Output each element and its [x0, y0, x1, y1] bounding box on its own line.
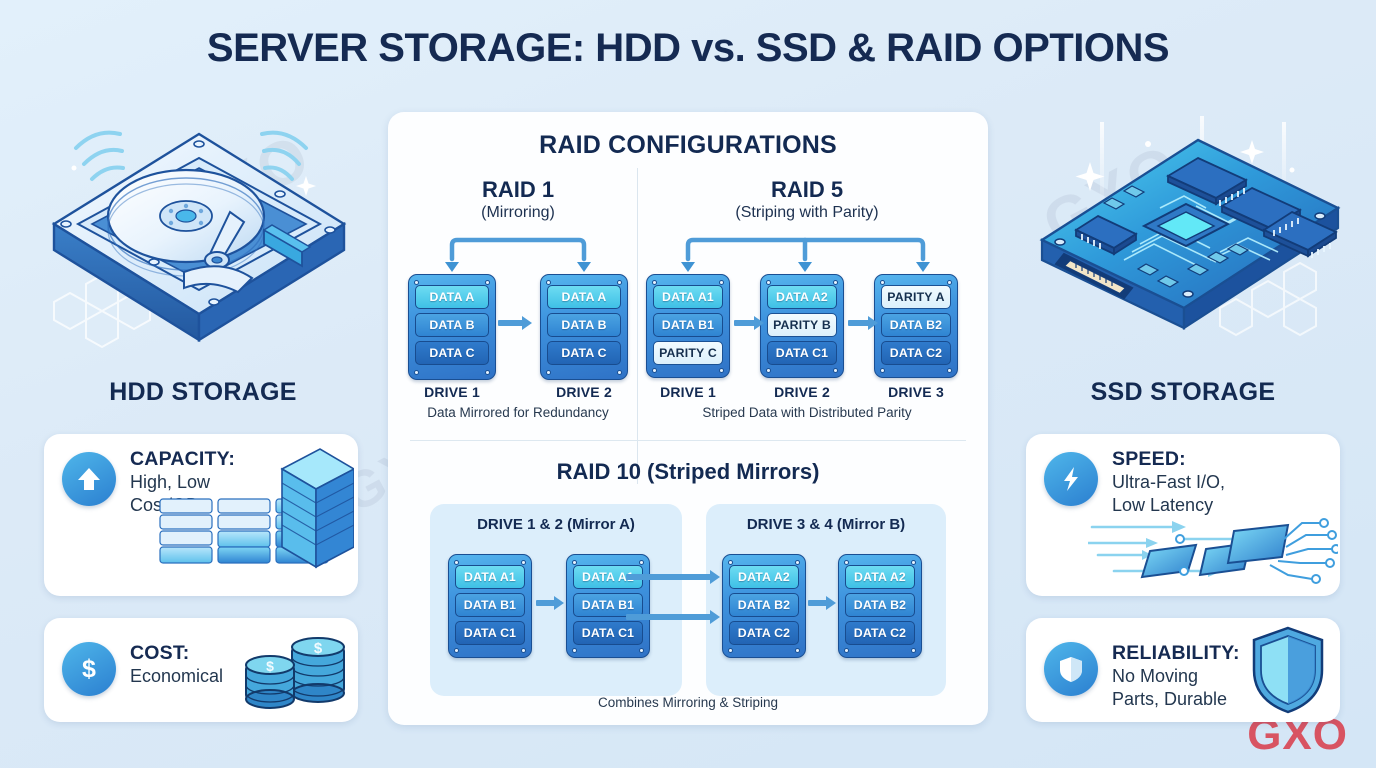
screw-icon [833, 280, 838, 285]
drive-label: DRIVE 2 [540, 384, 628, 400]
speed-head: SPEED: [1112, 448, 1225, 471]
screw-icon [639, 560, 644, 565]
raid10-group-b-drives: DATA A2 DATA B2 DATA C2 DATA A2 DATA B2 … [722, 554, 922, 658]
screw-icon [414, 370, 419, 375]
screw-icon [766, 280, 771, 285]
raid1-drive-row: DATA A DATA B DATA C DRIVE 1 DATA A DATA… [408, 274, 628, 380]
data-block: DATA C1 [767, 341, 837, 365]
cost-card: $ COST: Economical [44, 618, 358, 722]
raid1-drive-1[interactable]: DATA A DATA B DATA C DRIVE 1 [408, 274, 496, 380]
raid5-stripe-arrow [734, 320, 756, 326]
screw-icon [617, 280, 622, 285]
screw-icon [572, 560, 577, 565]
data-block: DATA A2 [767, 285, 837, 309]
raid1-subtitle: (Mirroring) [406, 204, 630, 222]
screw-icon [795, 648, 800, 653]
screw-icon [911, 648, 916, 653]
data-block: DATA A2 [845, 565, 915, 589]
shield-badge-art [1248, 624, 1328, 721]
raid10-stripe-arrow-top [626, 574, 712, 580]
page-title-text: SERVER STORAGE: HDD vs. SSD & RAID OPTIO… [207, 26, 1169, 70]
screw-icon [795, 560, 800, 565]
screw-icon [454, 560, 459, 565]
screw-icon [414, 280, 419, 285]
parity-block: PARITY B [767, 313, 837, 337]
data-block: DATA B2 [881, 313, 951, 337]
data-block: DATA B [415, 313, 489, 337]
lightning-bolt-icon [1044, 452, 1098, 506]
data-block: DATA C1 [573, 621, 643, 645]
raid-configurations-panel: RAID CONFIGURATIONS RAID 1 (Mirroring) D… [388, 112, 988, 725]
raid10-drive-4[interactable]: DATA A2 DATA B2 DATA C2 [838, 554, 922, 658]
reliability-body-2: Parts, Durable [1112, 689, 1240, 711]
stacked-platters-art [154, 439, 354, 596]
mirror-group-b-title: DRIVE 3 & 4 (Mirror B) [706, 516, 946, 533]
screw-icon [652, 280, 657, 285]
screw-icon [844, 560, 849, 565]
screw-icon [728, 648, 733, 653]
mirror-group-a-title: DRIVE 1 & 2 (Mirror A) [430, 516, 682, 533]
ssd-illustration [1020, 112, 1350, 367]
raid10-mirror-b-arrow [808, 600, 828, 606]
data-block: DATA C2 [881, 341, 951, 365]
screw-icon [911, 560, 916, 565]
data-block: DATA A2 [729, 565, 799, 589]
data-block: DATA C [415, 341, 489, 365]
reliability-body-1: No Moving [1112, 666, 1240, 688]
speed-body-1: Ultra-Fast I/O, [1112, 472, 1225, 494]
screw-icon [880, 368, 885, 373]
raid1-arrowhead [445, 262, 459, 272]
raid10-mirror-a-arrow [536, 600, 556, 606]
drive-label: DRIVE 3 [874, 384, 958, 400]
reliability-head: RELIABILITY: [1112, 642, 1240, 665]
raid-configurations-title: RAID CONFIGURATIONS [388, 131, 988, 160]
hdd-storage-heading: HDD STORAGE [38, 378, 368, 407]
raid5-drive-row: DATA A1 DATA B1 PARITY C DRIVE 1 DATA A2… [646, 274, 958, 378]
reliability-card: RELIABILITY: No Moving Parts, Durable [1026, 618, 1340, 722]
ssd-storage-heading: SSD STORAGE [1018, 378, 1348, 407]
screw-icon [617, 370, 622, 375]
screw-icon [485, 370, 490, 375]
raid10-title: RAID 10 (Striped Mirrors) [388, 460, 988, 483]
raid10-drive-3[interactable]: DATA A2 DATA B2 DATA C2 [722, 554, 806, 658]
raid10-caption: Combines Mirroring & Striping [388, 695, 988, 710]
screw-icon [719, 280, 724, 285]
hdd-illustration [34, 112, 364, 367]
drive-label: DRIVE 2 [760, 384, 844, 400]
raid1-mirror-arrowhead [522, 316, 532, 330]
raid10-drive-2[interactable]: DATA A1 DATA B1 DATA C1 [566, 554, 650, 658]
raid10-section: RAID 10 (Striped Mirrors) [388, 460, 988, 483]
raid10-stripe-arrowhead-top [710, 570, 720, 584]
raid1-name: RAID 1 [406, 178, 630, 201]
raid5-drive-3[interactable]: PARITY A DATA B2 DATA C2 DRIVE 3 [874, 274, 958, 378]
data-block: DATA C2 [845, 621, 915, 645]
screw-icon [652, 368, 657, 373]
raid10-group-a-drives: DATA A1 DATA B1 DATA C1 DATA A1 DATA B1 … [448, 554, 650, 658]
parity-block: PARITY A [881, 285, 951, 309]
screw-icon [521, 648, 526, 653]
screw-icon [947, 280, 952, 285]
svg-text:$: $ [266, 658, 274, 674]
screw-icon [485, 280, 490, 285]
cost-body-1: Economical [130, 666, 223, 688]
raid1-mirror-arrow [498, 320, 524, 326]
screw-icon [546, 280, 551, 285]
raid5-arrowhead [798, 262, 812, 272]
screw-icon [639, 648, 644, 653]
data-block: DATA A1 [455, 565, 525, 589]
raid5-section: RAID 5 (Striping with Parity) [646, 178, 968, 222]
data-block: DATA C [547, 341, 621, 365]
screw-icon [719, 368, 724, 373]
data-block: DATA B2 [845, 593, 915, 617]
raid10-stripe-arrow-bottom [626, 614, 712, 620]
raid5-stripe-arrowhead [868, 316, 878, 330]
drive-label: DRIVE 1 [646, 384, 730, 400]
parity-block: PARITY C [653, 341, 723, 365]
raid5-subtitle: (Striping with Parity) [646, 204, 968, 222]
data-block: DATA B [547, 313, 621, 337]
data-block: DATA A [415, 285, 489, 309]
raid5-name: RAID 5 [646, 178, 968, 201]
raid10-stripe-arrowhead-bottom [710, 610, 720, 624]
raid10-mirror-b-arrowhead [826, 596, 836, 610]
svg-text:$: $ [82, 655, 96, 683]
data-block: DATA C2 [729, 621, 799, 645]
raid5-stripe-arrowhead [754, 316, 764, 330]
capacity-card: CAPACITY: High, Low Cost/GB [44, 434, 358, 596]
drive-label: DRIVE 1 [408, 384, 496, 400]
screw-icon [454, 648, 459, 653]
shield-icon [1044, 642, 1098, 696]
raid1-bracket [406, 237, 630, 269]
screw-icon [728, 560, 733, 565]
data-block: DATA A [547, 285, 621, 309]
raid1-caption: Data Mirrored for Redundancy [398, 405, 638, 420]
svg-text:$: $ [314, 640, 323, 657]
screw-icon [844, 648, 849, 653]
raid10-mirror-a-arrowhead [554, 596, 564, 610]
data-block: DATA B1 [455, 593, 525, 617]
raid5-stripe-arrow [848, 320, 870, 326]
raid5-drive-1[interactable]: DATA A1 DATA B1 PARITY C DRIVE 1 [646, 274, 730, 378]
data-block: DATA A1 [653, 285, 723, 309]
data-block: DATA B1 [653, 313, 723, 337]
coin-stacks-art: $ $ [240, 621, 350, 718]
raid5-caption: Striped Data with Distributed Parity [646, 405, 968, 420]
speed-circuit-art [1088, 509, 1338, 594]
raid1-arrowhead [577, 262, 591, 272]
panel-horizontal-divider [410, 440, 966, 441]
cost-head: COST: [130, 642, 223, 665]
screw-icon [947, 368, 952, 373]
raid1-drive-2[interactable]: DATA A DATA B DATA C DRIVE 2 [540, 274, 628, 380]
screw-icon [572, 648, 577, 653]
raid5-drive-2[interactable]: DATA A2 PARITY B DATA C1 DRIVE 2 [760, 274, 844, 378]
up-arrow-icon [62, 452, 116, 506]
raid10-drive-1[interactable]: DATA A1 DATA B1 DATA C1 [448, 554, 532, 658]
screw-icon [766, 368, 771, 373]
panel-vertical-divider [637, 168, 638, 484]
raid5-arrowhead [681, 262, 695, 272]
dollar-sign-icon: $ [62, 642, 116, 696]
data-block: DATA B2 [729, 593, 799, 617]
data-block: DATA C1 [455, 621, 525, 645]
screw-icon [546, 370, 551, 375]
page-title: SERVER STORAGE: HDD vs. SSD & RAID OPTIO… [0, 26, 1376, 71]
screw-icon [880, 280, 885, 285]
raid5-arrowhead [916, 262, 930, 272]
raid1-section: RAID 1 (Mirroring) [406, 178, 630, 222]
screw-icon [833, 368, 838, 373]
speed-card: SPEED: Ultra-Fast I/O, Low Latency [1026, 434, 1340, 596]
screw-icon [521, 560, 526, 565]
